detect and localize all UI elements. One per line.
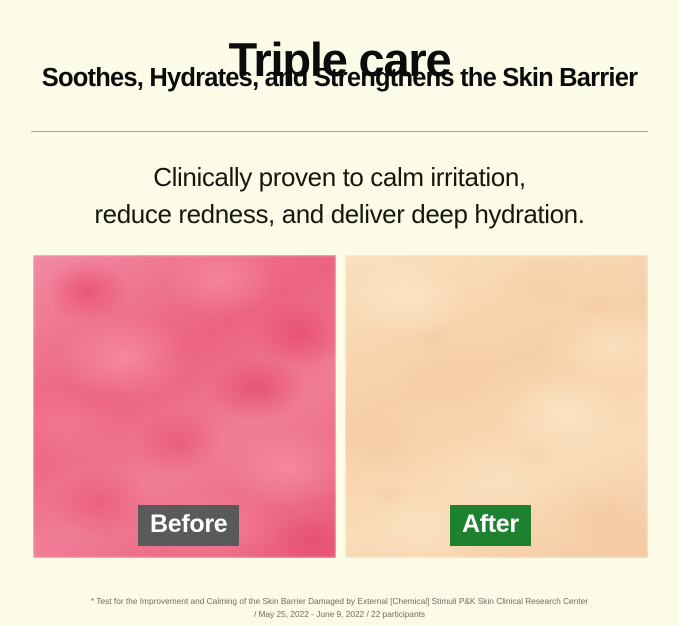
study-footnote: * Test for the Improvement and Calming o… bbox=[0, 595, 679, 620]
before-badge: Before bbox=[138, 505, 239, 546]
section-divider bbox=[31, 131, 648, 132]
page-subtitle: Soothes, Hydrates, and Strengthens the S… bbox=[0, 62, 679, 94]
product-claim-panel: Triple care Soothes, Hydrates, and Stren… bbox=[0, 0, 679, 626]
after-badge: After bbox=[450, 505, 531, 546]
claim-line-1: Clinically proven to calm irritation, bbox=[0, 159, 679, 196]
footnote-line-1: * Test for the Improvement and Calming o… bbox=[0, 595, 679, 608]
claim-line-2: reduce redness, and deliver deep hydrati… bbox=[0, 196, 679, 233]
before-after-comparison: Before After bbox=[33, 255, 648, 558]
claim-body-text: Clinically proven to calm irritation, re… bbox=[0, 159, 679, 233]
footnote-line-2: / May 25, 2022 - June 9, 2022 / 22 parti… bbox=[0, 608, 679, 621]
